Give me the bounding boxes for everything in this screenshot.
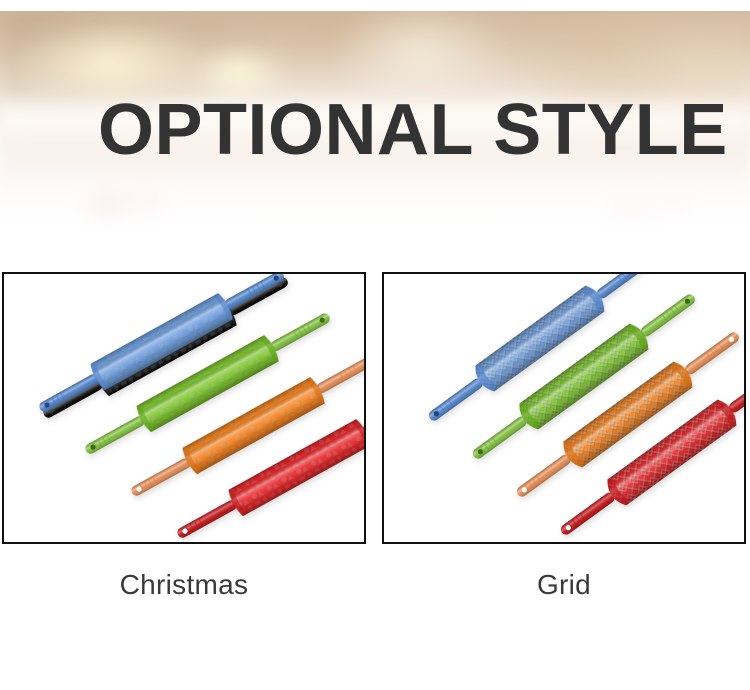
style-card-gallery: Christmas Grid: [0, 272, 750, 632]
style-card-christmas[interactable]: [2, 272, 366, 544]
style-caption-christmas: Christmas: [2, 569, 366, 601]
product-photo-christmas: [4, 274, 364, 542]
product-photo-grid: [384, 274, 744, 542]
hero-banner: OPTIONAL STYLE: [0, 0, 750, 262]
rolling-pins-grid-illustration: [384, 274, 744, 542]
style-card-grid[interactable]: [382, 272, 746, 544]
rolling-pins-christmas-illustration: [4, 274, 364, 542]
page-title: OPTIONAL STYLE: [98, 94, 728, 166]
hero-top-white-strip: [0, 0, 750, 11]
style-caption-grid: Grid: [382, 569, 746, 601]
